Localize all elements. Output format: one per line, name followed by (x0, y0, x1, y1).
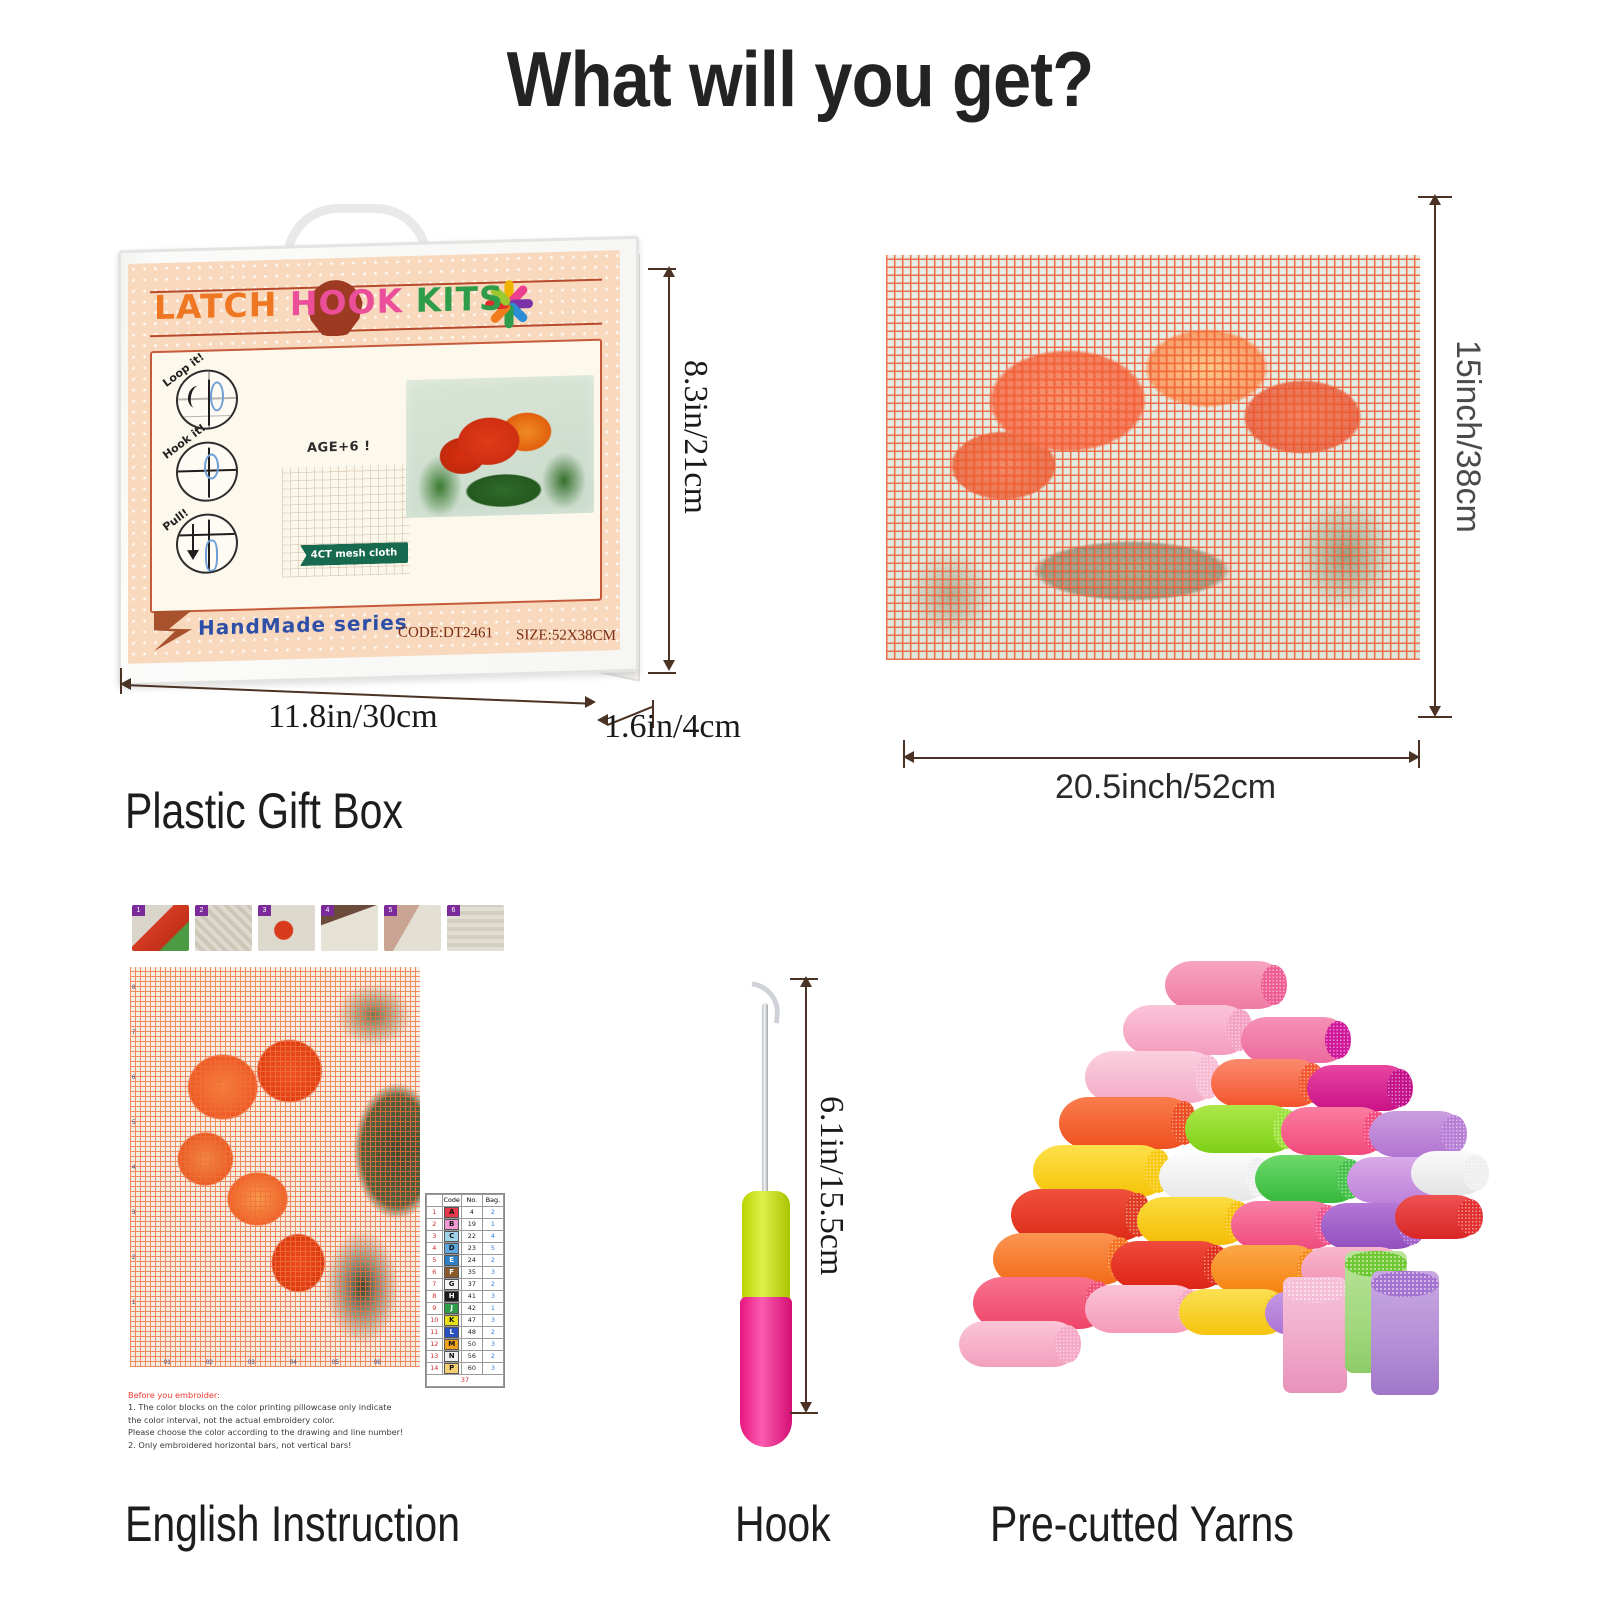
chart-x-tick: 01 (164, 1360, 171, 1366)
pre-cutted-yarns-image (955, 955, 1485, 1425)
table-row: 2B191 (427, 1219, 504, 1231)
table-row: 1A42 (427, 1207, 504, 1219)
legend-bag: 1 (482, 1303, 503, 1315)
legend-index: 7 (427, 1279, 443, 1291)
legend-bag: 2 (482, 1351, 503, 1363)
step-diagram-loop (176, 369, 238, 431)
color-swatch: J (444, 1303, 459, 1314)
color-swatch: K (444, 1315, 459, 1326)
list-item: 44 (321, 905, 378, 951)
brand-title: LATCH HOOK KITS (154, 278, 504, 327)
legend-number: 50 (461, 1339, 482, 1351)
chart-x-tick: 05 (332, 1360, 339, 1366)
age-label: AGE+6 ! (307, 439, 371, 456)
color-swatch: F (444, 1267, 459, 1278)
list-item: 33 (258, 905, 315, 951)
canvas-width-label: 20.5inch/52cm (1055, 768, 1276, 807)
legend-number: 23 (461, 1243, 482, 1255)
legend-bag: 2 (482, 1279, 503, 1291)
infographic-page: What will you get? LATCH HOOK KITS (0, 0, 1600, 1600)
legend-index: 2 (427, 1219, 443, 1231)
chart-x-tick: 03 (248, 1360, 255, 1366)
page-title: What will you get? (96, 34, 1504, 125)
table-row: 3C224 (427, 1231, 504, 1243)
product-size: SIZE:52X38CM (516, 627, 616, 645)
legend-code: N (442, 1351, 461, 1363)
legend-index: 1 (427, 1207, 443, 1219)
color-swatch: B (444, 1219, 459, 1230)
note-line-4: 2. Only embroidered horizontal bars, not… (128, 1439, 428, 1451)
legend-code: K (442, 1315, 461, 1327)
table-row: 9J421 (427, 1303, 504, 1315)
color-swatch: G (444, 1279, 459, 1290)
table-row: 12M503 (427, 1339, 504, 1351)
hook-handle-lower (740, 1297, 792, 1447)
legend-code: C (442, 1231, 461, 1243)
chart-x-tick: 02 (206, 1360, 213, 1366)
chart-x-tick: 06 (374, 1360, 381, 1366)
box-front-artwork: LATCH HOOK KITS Loop it! (128, 250, 620, 664)
chart-y-tick: 1 (132, 1300, 135, 1306)
note-line-1: 1. The color blocks on the color printin… (128, 1401, 428, 1413)
table-row: 10K473 (427, 1315, 504, 1327)
legend-bag: 3 (482, 1267, 503, 1279)
color-code-legend: CodeNo.Bag. 1A422B1913C2244D2355E2426F35… (425, 1193, 505, 1388)
table-row: 6F353 (427, 1267, 504, 1279)
chart-y-tick: 7 (132, 1030, 135, 1036)
color-swatch: P (444, 1363, 459, 1374)
legend-bag: 3 (482, 1339, 503, 1351)
legend-header-3: Bag. (482, 1195, 503, 1207)
legend-header-1: Code (442, 1195, 461, 1207)
legend-index: 14 (427, 1363, 443, 1375)
product-preview-image (406, 375, 594, 518)
legend-code: G (442, 1279, 461, 1291)
yarn-bundle-purple (1371, 1271, 1439, 1395)
color-swatch: L (444, 1327, 459, 1338)
legend-index: 5 (427, 1255, 443, 1267)
mesh-cloth-ribbon: 4CT mesh cloth (300, 542, 408, 566)
legend-header-0 (427, 1195, 443, 1207)
trademark-mark: ” (366, 617, 370, 629)
before-you-embroider-note: Before you embroider: 1. The color block… (128, 1389, 428, 1451)
table-row: 8H413 (427, 1291, 504, 1303)
legend-code: L (442, 1327, 461, 1339)
legend-bag: 5 (482, 1243, 503, 1255)
table-row: 11L482 (427, 1327, 504, 1339)
table-row: 13N562 (427, 1351, 504, 1363)
step-thumbnail-strip: 11 22 33 44 55 66 (132, 905, 504, 951)
legend-code: E (442, 1255, 461, 1267)
legend-bag: 1 (482, 1219, 503, 1231)
caption-hook: Hook (735, 1495, 831, 1553)
legend-code: B (442, 1219, 461, 1231)
legend-number: 22 (461, 1231, 482, 1243)
color-swatch: D (444, 1243, 459, 1254)
caption-english-instruction: English Instruction (125, 1495, 460, 1553)
box-depth-label: 1.6in/4cm (604, 708, 741, 746)
chart-y-tick: 3 (132, 1210, 135, 1216)
brand-word-latch: LATCH (154, 285, 277, 327)
list-item: 66 (447, 905, 504, 951)
pattern-chart-image: 87654321010203040506 (130, 967, 420, 1367)
color-swatch: N (444, 1351, 459, 1362)
legend-code: D (442, 1243, 461, 1255)
chart-y-tick: 4 (132, 1165, 135, 1171)
legend-index: 10 (427, 1315, 443, 1327)
legend-code: A (442, 1207, 461, 1219)
legend-number: 47 (461, 1315, 482, 1327)
legend-index: 3 (427, 1231, 443, 1243)
list-item: 55 (384, 905, 441, 951)
step-diagram-pull (176, 513, 238, 575)
legend-total: 37 (427, 1375, 504, 1387)
legend-code: M (442, 1339, 461, 1351)
plastic-gift-box-image: LATCH HOOK KITS Loop it! (118, 205, 648, 675)
list-item: 22 (195, 905, 252, 951)
legend-header-2: No. (461, 1195, 482, 1207)
table-row: 5E242 (427, 1255, 504, 1267)
list-item: 11 (132, 905, 189, 951)
legend-bag: 3 (482, 1363, 503, 1375)
legend-number: 42 (461, 1303, 482, 1315)
hook-handle-upper (742, 1191, 790, 1303)
color-swatch: E (444, 1255, 459, 1266)
english-instruction-sheet: 11 22 33 44 55 66 87654321010203040506 C… (128, 905, 508, 1475)
legend-bag: 3 (482, 1315, 503, 1327)
printed-canvas-image (886, 255, 1420, 660)
legend-index: 12 (427, 1339, 443, 1351)
legend-number: 35 (461, 1267, 482, 1279)
table-row: 7G372 (427, 1279, 504, 1291)
caption-plastic-gift-box: Plastic Gift Box (125, 782, 403, 840)
zigzag-icon (154, 610, 192, 651)
series-label: HandMade series (198, 610, 408, 640)
hook-length-label: 6.1in/15.5cm (812, 1096, 850, 1275)
note-line-3: Please choose the color according to the… (128, 1426, 428, 1438)
legend-bag: 2 (482, 1255, 503, 1267)
product-code: CODE:DT2461 (398, 625, 493, 643)
legend-code: H (442, 1291, 461, 1303)
chart-y-tick: 6 (132, 1075, 135, 1081)
legend-bag: 2 (482, 1207, 503, 1219)
legend-code: F (442, 1267, 461, 1279)
color-swatch: M (444, 1339, 459, 1350)
legend-index: 13 (427, 1351, 443, 1363)
caption-pre-cutted-yarns: Pre-cutted Yarns (990, 1495, 1294, 1553)
legend-number: 24 (461, 1255, 482, 1267)
legend-bag: 3 (482, 1291, 503, 1303)
color-swatch: H (444, 1291, 459, 1302)
legend-bag: 4 (482, 1231, 503, 1243)
legend-number: 37 (461, 1279, 482, 1291)
step-diagram-hook (176, 441, 238, 503)
legend-number: 56 (461, 1351, 482, 1363)
legend-code: J (442, 1303, 461, 1315)
legend-number: 4 (461, 1207, 482, 1219)
chart-y-tick: 5 (132, 1120, 135, 1126)
legend-code: P (442, 1363, 461, 1375)
table-row: 14P603 (427, 1363, 504, 1375)
legend-index: 11 (427, 1327, 443, 1339)
chart-y-tick: 2 (132, 1255, 135, 1261)
box-width-label: 11.8in/30cm (268, 698, 438, 736)
legend-number: 19 (461, 1219, 482, 1231)
hook-shaft (762, 1003, 768, 1203)
brand-word-kits: KITS (416, 278, 504, 319)
color-swatch: C (444, 1231, 459, 1242)
legend-bag: 2 (482, 1327, 503, 1339)
mesh-grid-overlay (886, 255, 1420, 660)
instruction-panel: Loop it! Hook it! Pull! (150, 339, 602, 614)
legend-index: 8 (427, 1291, 443, 1303)
note-heading: Before you embroider: (128, 1389, 428, 1401)
note-line-2: the color interval, not the actual embro… (128, 1414, 428, 1426)
brand-word-hook: HOOK (290, 281, 403, 323)
canvas-height-label: 15inch/38cm (1448, 340, 1487, 533)
legend-number: 41 (461, 1291, 482, 1303)
legend-number: 48 (461, 1327, 482, 1339)
legend-number: 60 (461, 1363, 482, 1375)
chart-x-tick: 04 (290, 1360, 297, 1366)
color-swatch: A (444, 1207, 459, 1218)
yarn-bundle-pink (1283, 1277, 1347, 1393)
chart-y-tick: 8 (132, 985, 135, 991)
legend-index: 9 (427, 1303, 443, 1315)
box-height-label: 8.3in/21cm (676, 360, 714, 514)
legend-index: 6 (427, 1267, 443, 1279)
table-row: 4D235 (427, 1243, 504, 1255)
legend-index: 4 (427, 1243, 443, 1255)
